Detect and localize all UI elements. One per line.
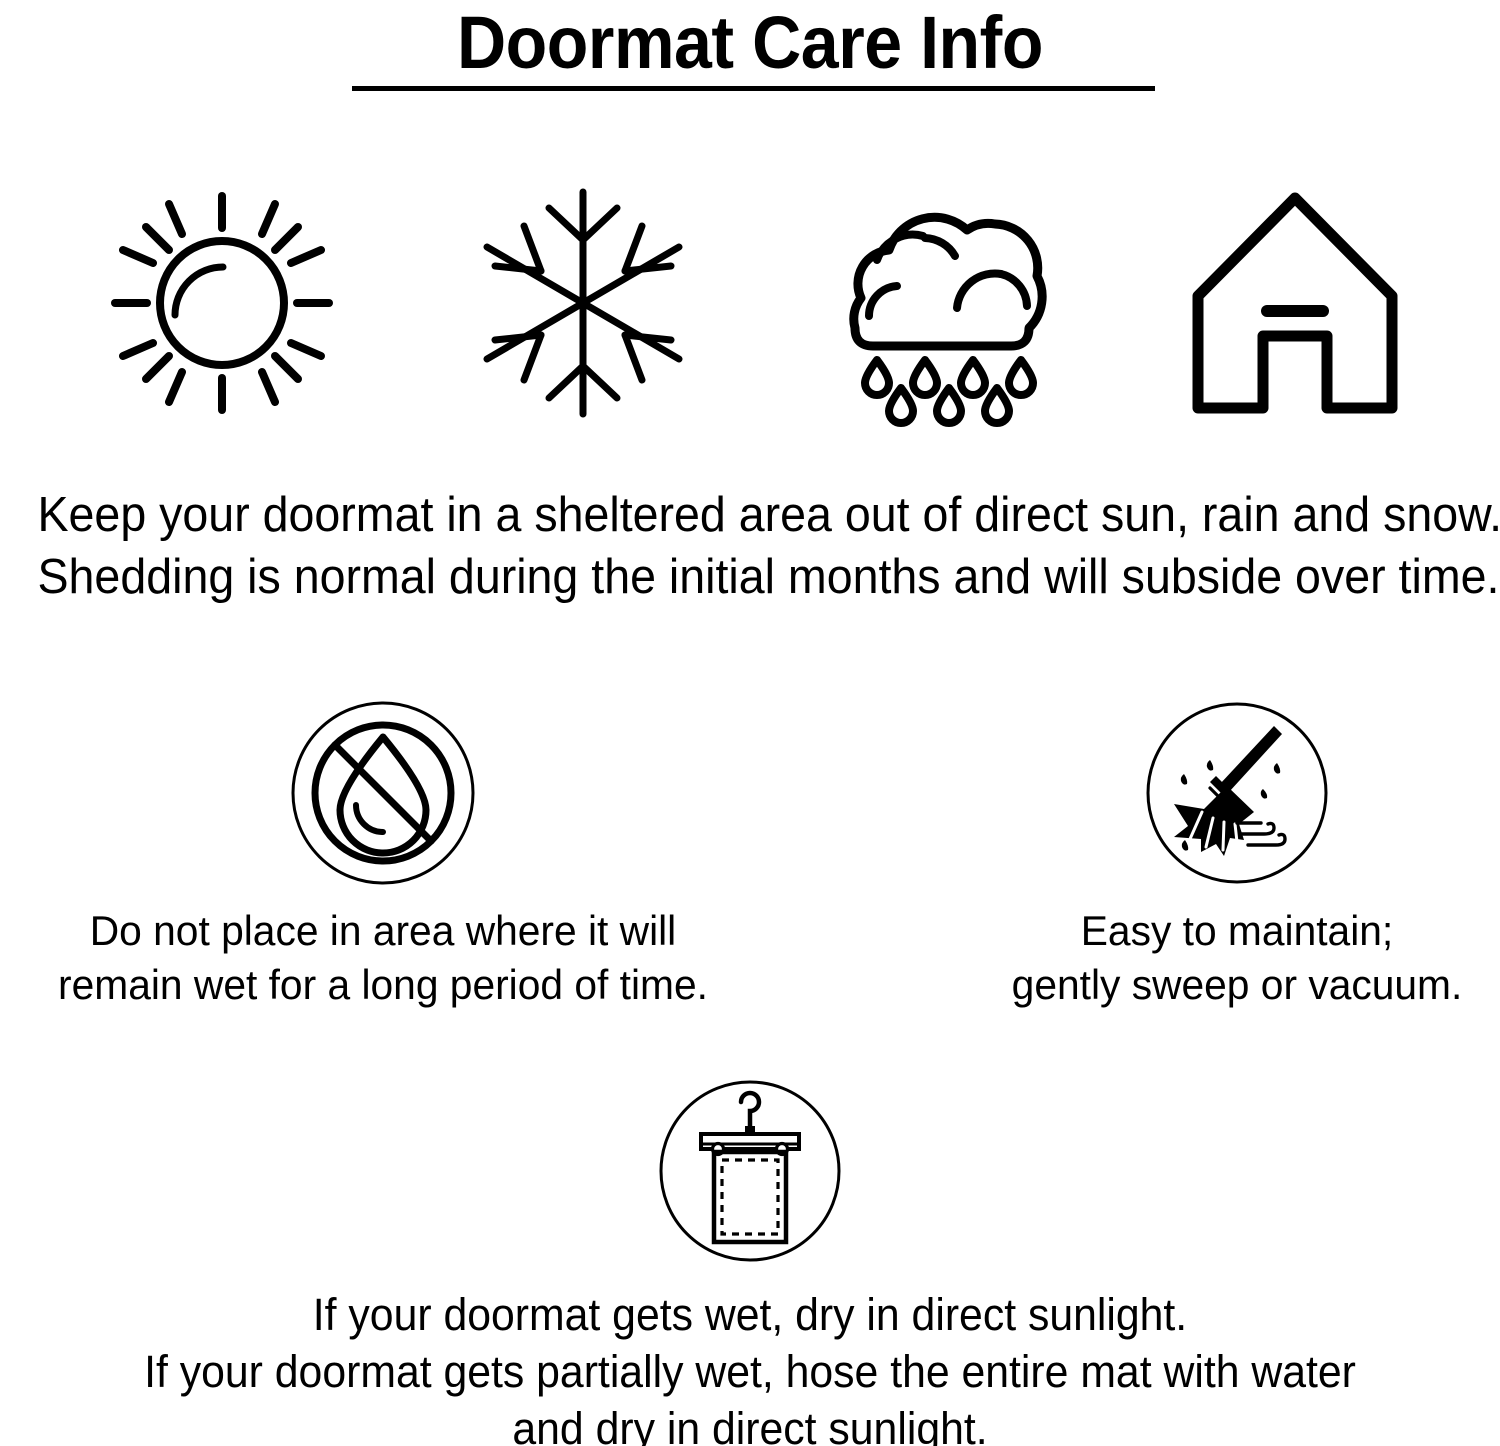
drying-instructions-caption: If your doormat gets wet, dry in direct … [38, 1286, 1463, 1446]
title-underline-rule [352, 86, 1155, 91]
no-water-caption: Do not place in area where it will remai… [44, 904, 723, 1012]
drying-line-3: and dry in direct sunlight. [38, 1400, 1463, 1446]
easy-maintain-caption: Easy to maintain; gently sweep or vacuum… [898, 904, 1500, 1012]
sun-icon [97, 178, 347, 428]
house-icon [1170, 178, 1420, 428]
no-water-caption-line-2: remain wet for a long period of time. [44, 958, 723, 1012]
easy-maintain-caption-line-1: Easy to maintain; [898, 904, 1500, 958]
broom-sweep-icon [1144, 700, 1330, 886]
easy-maintain-caption-line-2: gently sweep or vacuum. [898, 958, 1500, 1012]
intro-line-1: Keep your doormat in a sheltered area ou… [38, 484, 1463, 546]
hang-dry-icon [657, 1078, 843, 1264]
title-block: Doormat Care Info [0, 0, 1500, 82]
weather-icon-row [0, 178, 1500, 428]
page-title: Doormat Care Info [60, 0, 1440, 82]
snowflake-icon [458, 178, 708, 428]
no-water-icon [290, 700, 476, 886]
drying-line-2: If your doormat gets partially wet, hose… [38, 1343, 1463, 1400]
intro-paragraph: Keep your doormat in a sheltered area ou… [38, 484, 1463, 608]
no-water-caption-line-1: Do not place in area where it will [44, 904, 723, 958]
drying-instructions-block: If your doormat gets wet, dry in direct … [0, 1078, 1500, 1446]
care-items-row: Do not place in area where it will remai… [0, 700, 1500, 1020]
care-item-no-standing-water: Do not place in area where it will remai… [33, 700, 733, 1012]
care-item-easy-maintain: Easy to maintain; gently sweep or vacuum… [887, 700, 1500, 1012]
rain-cloud-icon [815, 178, 1065, 428]
intro-line-2: Shedding is normal during the initial mo… [38, 546, 1463, 608]
drying-line-1: If your doormat gets wet, dry in direct … [38, 1286, 1463, 1343]
doormat-care-info-page: Doormat Care Info [0, 0, 1500, 1446]
